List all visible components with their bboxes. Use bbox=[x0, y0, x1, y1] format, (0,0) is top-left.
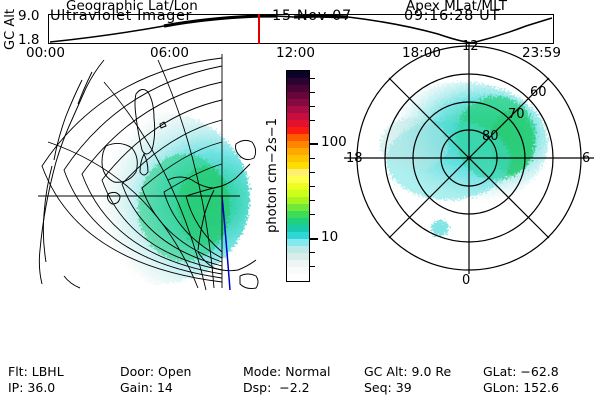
status-glon-label: GLon: bbox=[483, 380, 519, 395]
polar-mlat-mlt-panel[interactable]: 12 6 0 18 60 70 80 bbox=[344, 38, 594, 294]
colorbar-segment-26 bbox=[287, 253, 309, 260]
mlt-spokes bbox=[344, 42, 594, 274]
status-door-label: Door: bbox=[120, 364, 154, 379]
colorbar-segment-16 bbox=[287, 183, 309, 190]
colorbar-segment-27 bbox=[287, 260, 309, 267]
gc-alt-axis-text: GC Alt bbox=[3, 9, 18, 50]
colorbar-tick-100 bbox=[309, 143, 318, 145]
polar-panel-title: Apex MLat/MLT bbox=[406, 0, 507, 14]
geographic-map-svg bbox=[8, 38, 266, 296]
mlat-label-60: 60 bbox=[530, 85, 547, 100]
colorbar-segment-6 bbox=[287, 113, 309, 120]
colorbar-segment-8 bbox=[287, 127, 309, 134]
status-gain: Gain: 14 bbox=[120, 380, 173, 395]
status-ip-value: 36.0 bbox=[27, 380, 55, 395]
status-ip: IP: 36.0 bbox=[8, 380, 55, 395]
current-time-marker bbox=[258, 14, 260, 44]
status-gcalt-label: GC Alt: bbox=[364, 364, 408, 379]
mlt-label-0: 0 bbox=[462, 273, 470, 288]
colorbar-segment-15 bbox=[287, 176, 309, 183]
status-mode-value: Normal bbox=[285, 364, 330, 379]
mlat-label-70: 70 bbox=[508, 107, 525, 122]
colorbar-segment-1 bbox=[287, 78, 309, 85]
status-dsp-value: −2.2 bbox=[279, 380, 309, 395]
status-flt-label: Flt: bbox=[8, 364, 28, 379]
time-tick-2: 12:00 bbox=[276, 45, 315, 61]
colorbar-segment-19 bbox=[287, 204, 309, 211]
colorbar-segment-4 bbox=[287, 99, 309, 106]
colorbar-segment-11 bbox=[287, 148, 309, 155]
polar-plot-svg: 12 6 0 18 60 70 80 bbox=[344, 38, 594, 294]
colorbar-segment-24 bbox=[287, 239, 309, 246]
colorbar-segment-18 bbox=[287, 197, 309, 204]
time-tick-1: 06:00 bbox=[150, 45, 189, 61]
colorbar-segment-23 bbox=[287, 232, 309, 239]
colorbar-tick-10 bbox=[309, 238, 318, 240]
orbit-altitude-curve bbox=[50, 16, 552, 43]
colorbar-ticklabel-100: 100 bbox=[321, 136, 347, 150]
mlt-label-6: 6 bbox=[582, 151, 590, 166]
status-ip-label: IP: bbox=[8, 380, 23, 395]
colorbar-segment-28 bbox=[287, 267, 309, 274]
colorbar-segment-0 bbox=[287, 71, 309, 78]
status-glon: GLon: 152.6 bbox=[483, 380, 559, 395]
colorbar-segment-25 bbox=[287, 246, 309, 253]
status-glat: GLat: −62.8 bbox=[483, 364, 559, 379]
time-tick-4: 23:59 bbox=[522, 45, 561, 61]
status-flt-value: LBHL bbox=[32, 364, 64, 379]
colorbar-segment-7 bbox=[287, 120, 309, 127]
colorbar-segment-2 bbox=[287, 85, 309, 92]
colorbar-segment-3 bbox=[287, 92, 309, 99]
status-glat-label: GLat: bbox=[483, 364, 516, 379]
colorbar-segment-10 bbox=[287, 141, 309, 148]
status-seq: Seq: 39 bbox=[364, 380, 412, 395]
colorbar-units-text: photon cm−2s−1 bbox=[265, 118, 280, 233]
time-tick-3: 18:00 bbox=[402, 45, 441, 61]
orbit-altitude-trace-svg bbox=[48, 14, 554, 44]
status-seq-label: Seq: bbox=[364, 380, 392, 395]
status-gain-value: 14 bbox=[157, 380, 173, 395]
time-tick-0: 00:00 bbox=[26, 45, 65, 61]
colorbar-segment-29 bbox=[287, 274, 309, 281]
colorbar-segment-5 bbox=[287, 106, 309, 113]
status-mode: Mode: Normal bbox=[243, 364, 331, 379]
colorbar-segment-21 bbox=[287, 218, 309, 225]
status-gcalt-value: 9.0 Re bbox=[412, 364, 452, 379]
status-bar: Flt: LBHL Door: Open Mode: Normal GC Alt… bbox=[0, 364, 600, 398]
status-door-value: Open bbox=[158, 364, 191, 379]
colorbar-axis-label: photon cm−2s−1 bbox=[262, 70, 282, 280]
colorbar bbox=[286, 70, 310, 282]
colorbar-segment-9 bbox=[287, 134, 309, 141]
colorbar-segment-14 bbox=[287, 169, 309, 176]
geographic-map-panel[interactable] bbox=[8, 38, 266, 296]
status-glon-value: 152.6 bbox=[523, 380, 559, 395]
alt-tick-high: 9.0 bbox=[18, 10, 39, 24]
mlat-label-80: 80 bbox=[482, 129, 499, 144]
colorbar-segment-13 bbox=[287, 162, 309, 169]
gc-alt-axis-label: GC Alt bbox=[2, 14, 18, 44]
status-flt: Flt: LBHL bbox=[8, 364, 64, 379]
status-glat-value: −62.8 bbox=[520, 364, 558, 379]
colorbar-segment-22 bbox=[287, 225, 309, 232]
status-dsp-label: Dsp: bbox=[243, 380, 271, 395]
colorbar-ticklabel-10: 10 bbox=[321, 231, 338, 245]
colorbar-segment-12 bbox=[287, 155, 309, 162]
colorbar-segment-20 bbox=[287, 211, 309, 218]
status-dsp: Dsp: −2.2 bbox=[243, 380, 310, 395]
status-mode-label: Mode: bbox=[243, 364, 281, 379]
colorbar-segment-17 bbox=[287, 190, 309, 197]
geo-panel-title: Geographic Lat/Lon bbox=[66, 0, 198, 14]
status-seq-value: 39 bbox=[396, 380, 412, 395]
mlt-label-18: 18 bbox=[346, 151, 363, 166]
status-gcalt: GC Alt: 9.0 Re bbox=[364, 364, 451, 379]
status-door: Door: Open bbox=[120, 364, 191, 379]
status-gain-label: Gain: bbox=[120, 380, 153, 395]
